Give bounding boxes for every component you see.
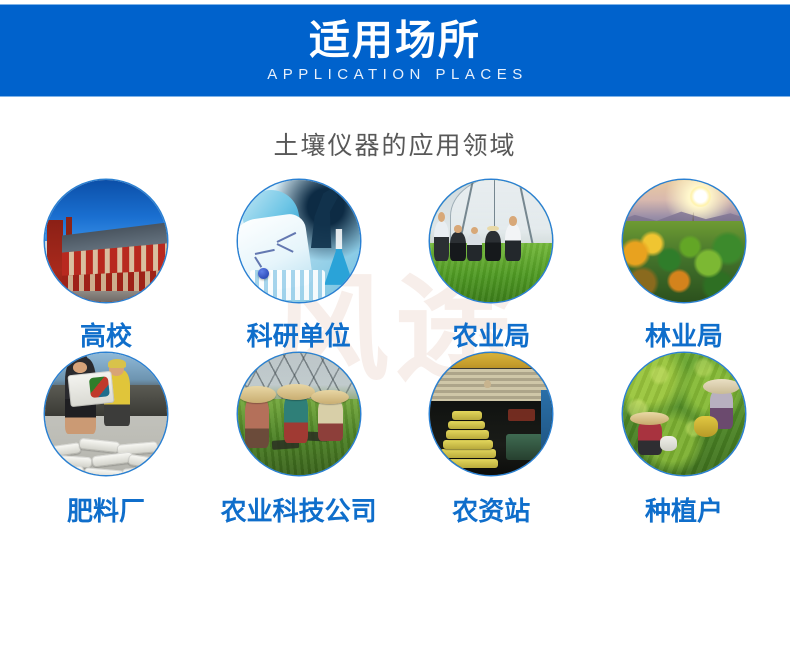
- banner-subtitle: APPLICATION PLACES: [262, 67, 527, 82]
- place-item-research-institute[interactable]: 科研单位: [211, 180, 387, 350]
- application-places-grid: 高校 科研单位: [0, 180, 790, 525]
- seedling-greenhouse-photo: [238, 353, 360, 475]
- greenhouse-inspection-photo: [430, 180, 552, 302]
- place-label: 种植户: [645, 499, 723, 525]
- autumn-forest-photo: [623, 180, 745, 302]
- laboratory-research-photo: [238, 180, 360, 302]
- place-item-agriculture-bureau[interactable]: 农业局: [403, 180, 579, 350]
- grid-row-2: 肥料厂 农业科技公司: [0, 353, 790, 525]
- agri-supply-store-photo: [430, 353, 552, 475]
- place-item-university[interactable]: 高校: [18, 180, 194, 350]
- section-heading: 土壤仪器的应用领域: [0, 126, 790, 162]
- place-item-forestry-bureau[interactable]: 林业局: [596, 180, 772, 350]
- university-building-photo: [45, 180, 167, 302]
- fertilizer-bags-photo: [45, 353, 167, 475]
- place-item-growers[interactable]: 种植户: [596, 353, 772, 525]
- place-label: 高校: [80, 324, 132, 350]
- grid-row-1: 高校 科研单位: [0, 180, 790, 350]
- place-label: 农业局: [452, 324, 530, 350]
- field-growers-photo: [623, 353, 745, 475]
- page-banner: 适用场所 APPLICATION PLACES: [0, 0, 790, 101]
- place-label: 科研单位: [247, 324, 351, 350]
- banner-title: 适用场所: [309, 20, 481, 61]
- place-item-agritech-company[interactable]: 农业科技公司: [211, 353, 387, 525]
- place-label: 林业局: [645, 324, 723, 350]
- place-label: 农业科技公司: [221, 499, 377, 525]
- place-label: 肥料厂: [67, 499, 145, 525]
- place-item-agri-supply-station[interactable]: 农资站: [403, 353, 579, 525]
- place-label: 农资站: [452, 499, 530, 525]
- place-item-fertilizer-factory[interactable]: 肥料厂: [18, 353, 194, 525]
